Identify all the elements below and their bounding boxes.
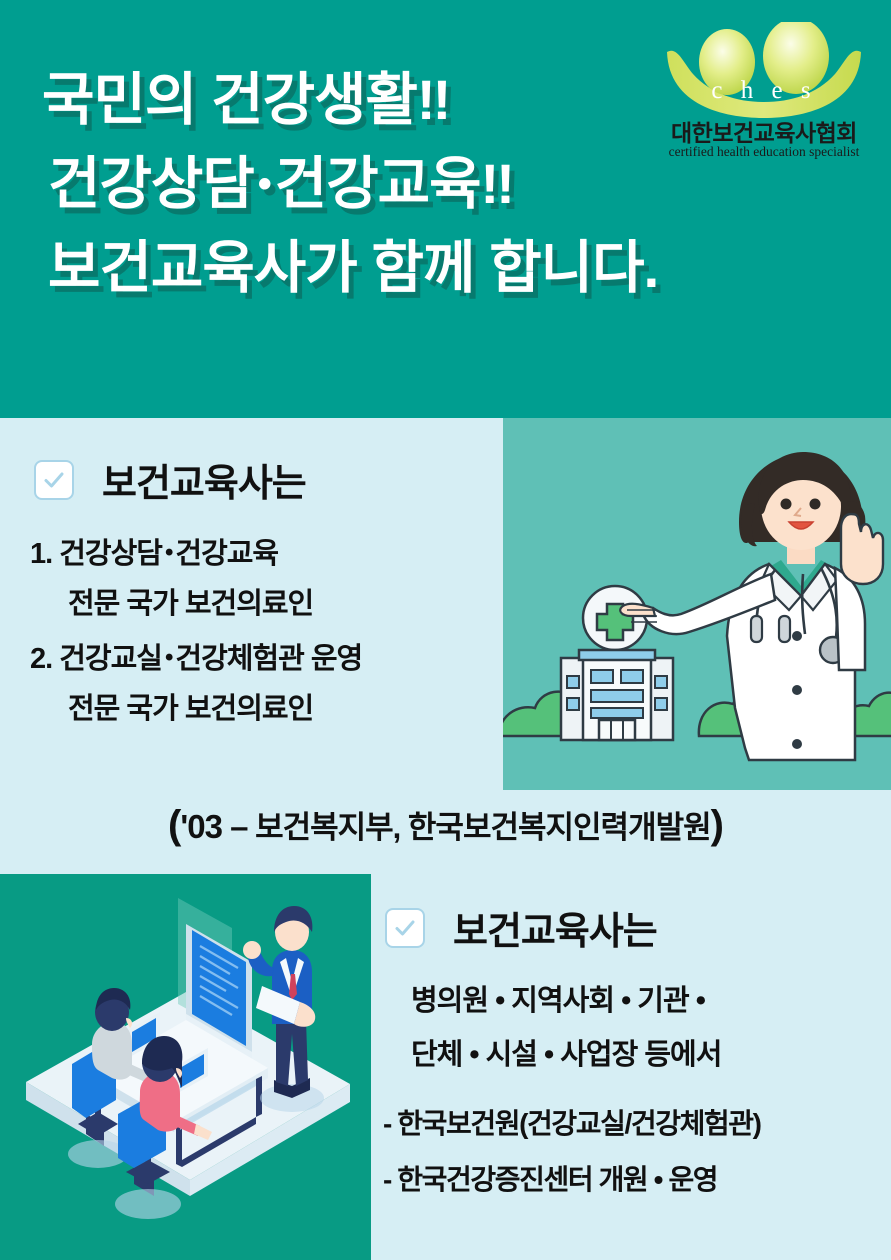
list-item-1-separator: • [162,539,175,566]
list-item-1-line-1: 1. 건강상담•건강교육 [30,528,500,579]
headline-line-1: 국민의 건강생활!! [42,58,662,142]
headline-line-2-part1: 건강상담 [48,152,254,216]
program-bullet-1: - 한국보건원(건강교실/건강체험관) [383,1096,891,1152]
headline-line-2: 건강상담•건강교육!! [42,142,662,226]
list-item-1-part2: 건강교육 [175,538,278,570]
headline-block: 국민의 건강생활!! 건강상담•건강교육!! 보건교육사가 함께 합니다. [42,58,662,310]
list-item-2-part1: 건강교실 [59,643,162,675]
program-bullet-2: - 한국건강증진센터 개원 • 운영 [383,1152,891,1208]
checkbox-icon [385,908,425,948]
headline-line-3: 보건교육사가 함께 합니다. [42,226,662,310]
venue-line-2: 단체 • 시설 • 사업장 등에서 [411,1028,881,1082]
list-item-2-line-2: 전문 국가 보건의료인 [30,684,500,734]
headline-line-1-mark: !! [417,68,448,131]
headline-line-2-separator: • [254,162,275,206]
list-item: 2. 건강교실•건강체험관 운영 전문 국가 보건의료인 [30,633,500,734]
ches-logo-mark-icon: c h e s [659,22,869,118]
list-item-2-separator: • [162,644,175,671]
upper-checkbox-row: 보건교육사는 [34,452,306,507]
headline-line-2-part2: 건강교육 [275,152,481,216]
list-item: 1. 건강상담•건강교육 전문 국가 보건의료인 [30,528,500,629]
citation-line: ('03 – 보건복지부, 한국보건복지인력개발원) [0,802,891,848]
health-educator-illustration [503,418,891,790]
citation-strip: ('03 – 보건복지부, 한국보건복지인력개발원) [0,790,891,874]
venue-lines: 병의원 • 지역사회 • 기관 • 단체 • 시설 • 사업장 등에서 [411,974,881,1082]
program-bullets: - 한국보건원(건강교실/건강체험관) - 한국건강증진센터 개원 • 운영 [383,1096,891,1208]
headline-line-1-text: 국민의 건강생활 [42,68,417,132]
lower-checkbox-row: 보건교육사는 [385,900,657,955]
upper-numbered-list: 1. 건강상담•건강교육 전문 국가 보건의료인 2. 건강교실•건강체험관 운… [30,528,500,738]
ches-logo: c h e s 대한보건교육사협회 certified health educa… [659,22,869,170]
list-item-2-number: 2. [30,643,52,675]
list-item-1-part1: 건강상담 [59,538,162,570]
logo-english-name: certified health education specialist [659,144,869,160]
citation-close-paren: ) [711,803,723,847]
headline-line-2-mark: !! [481,152,512,215]
list-item-1-line-2: 전문 국가 보건의료인 [30,579,500,629]
venue-line-1: 병의원 • 지역사회 • 기관 • [411,974,881,1028]
list-item-1-number: 1. [30,538,52,570]
citation-source: 보건복지부, 한국보건복지인력개발원 [255,810,711,845]
checkbox-icon [34,460,74,500]
upper-checkbox-label: 보건교육사는 [102,452,306,507]
citation-open-paren: ( [168,803,180,847]
classroom-training-illustration [0,874,371,1260]
isometric-classroom-scene-icon [0,874,371,1260]
headline-line-3-text: 보건교육사가 함께 합니다. [48,236,658,300]
lower-info-panel: 보건교육사는 병의원 • 지역사회 • 기관 • 단체 • 시설 • 사업장 등… [371,874,891,1260]
upper-info-panel: 보건교육사는 1. 건강상담•건강교육 전문 국가 보건의료인 2. 건강교실•… [0,418,503,790]
list-item-2-part2: 건강체험관 운영 [175,643,362,675]
list-item-2-line-1: 2. 건강교실•건강체험관 운영 [30,633,500,684]
poster-root: 국민의 건강생활!! 건강상담•건강교육!! 보건교육사가 함께 합니다. [0,0,891,1260]
lower-checkbox-label: 보건교육사는 [453,900,657,955]
health-educator-hospital-scene-icon [503,418,891,790]
poster-header: 국민의 건강생활!! 건강상담•건강교육!! 보건교육사가 함께 합니다. [0,0,891,418]
svg-text:c h e s: c h e s [711,77,816,104]
logo-korean-name: 대한보건교육사협회 [659,114,869,148]
citation-year: '03 – [180,808,247,845]
